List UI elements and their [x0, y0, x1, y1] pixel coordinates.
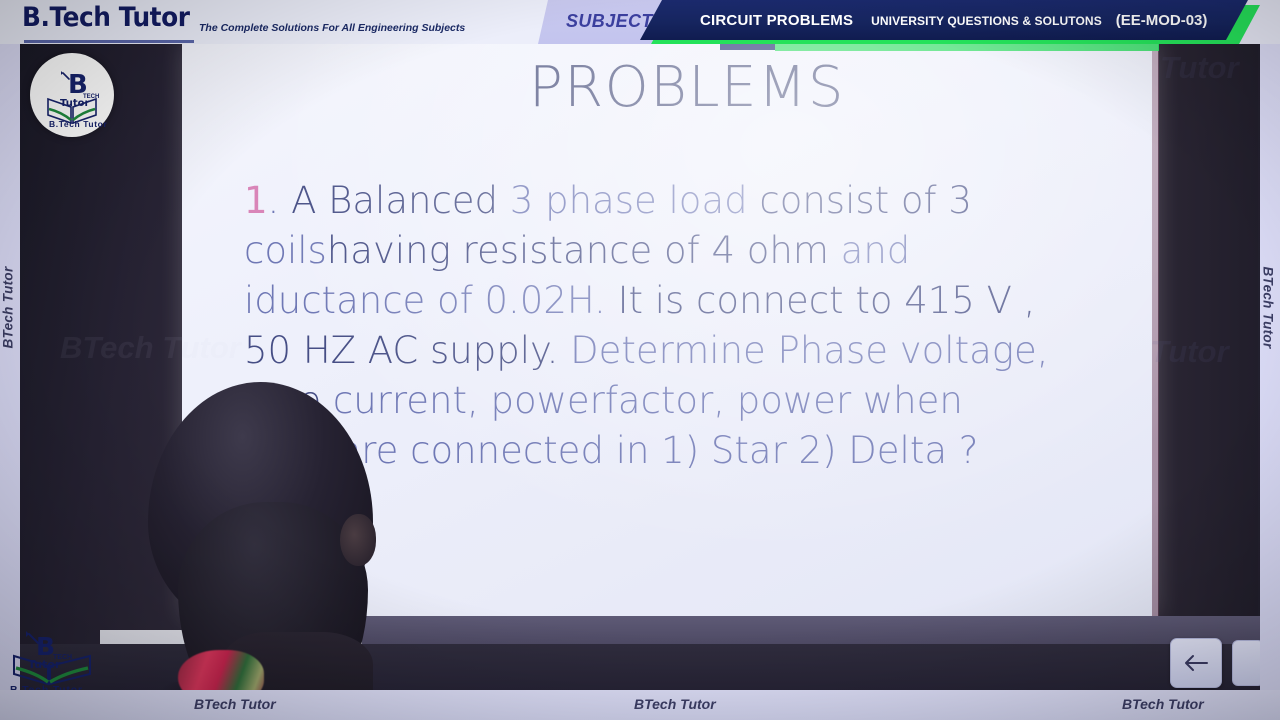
arrow-left-icon — [1183, 654, 1209, 672]
line2-part-c: and — [841, 229, 911, 272]
line1-part-c: consist of 3 — [759, 179, 972, 222]
brand-title: B.Tech Tutor — [22, 2, 189, 33]
watermark-bottom-left: BTech Tutor — [194, 696, 276, 712]
btech-tutor-logo-icon: B TECH Tutor B.Tech Tutor — [30, 53, 114, 137]
question-line-6: coils are connected in 1) Star 2) Delta … — [244, 426, 1144, 476]
brand-underline — [24, 40, 194, 43]
header-bar: B.Tech Tutor The Complete Solutions For … — [0, 0, 1280, 44]
watermark-side-right: BTech Tutor — [1261, 266, 1276, 348]
screen-right-edge — [1152, 44, 1159, 616]
line6-part-b: are connected in 1) Star 2) Delta ? — [327, 429, 979, 472]
question-number: 1 — [244, 179, 268, 222]
subject-label: SUBJECT: — [566, 11, 658, 32]
line3-part-b: It is connect to 415 V , — [618, 279, 1036, 322]
logo-badge-top: B TECH Tutor B.Tech Tutor — [30, 53, 114, 137]
desk-shadow — [0, 644, 1280, 690]
line1-part-b: 3 phase load — [510, 179, 760, 222]
line5-part-b: current, powerfactor, power when — [321, 379, 963, 422]
line2-part-a: coils — [244, 229, 327, 272]
slide-body: 1. A Balanced 3 phase load consist of 3 … — [244, 176, 1144, 476]
left-rail — [0, 44, 20, 690]
banner-main-title: CIRCUIT PROBLEMS — [700, 12, 853, 29]
question-line-1: 1. A Balanced 3 phase load consist of 3 — [244, 176, 1144, 226]
question-line-3: iductance of 0.02H. It is connect to 415… — [244, 276, 1144, 326]
btech-tutor-logo-icon: B TECH Tutor B.Tech Tutor — [6, 628, 98, 696]
brand-tagline: The Complete Solutions For All Engineeri… — [199, 22, 465, 34]
question-line-2: coilshaving resistance of 4 ohm and — [244, 226, 1144, 276]
line4-part-b: Determine Phase voltage, — [570, 329, 1048, 372]
subject-banner-text: CIRCUIT PROBLEMS UNIVERSITY QUESTIONS & … — [700, 12, 1207, 30]
svg-text:Tutor: Tutor — [28, 658, 61, 671]
watermark-bottom-right: BTech Tutor — [1122, 696, 1204, 712]
slide-title: PROBLEMS — [529, 55, 845, 120]
wall-right-dark — [1158, 44, 1258, 644]
slide-green-strip — [775, 44, 1159, 51]
line1-part-a: A Balanced — [291, 179, 510, 222]
right-rail — [1260, 44, 1280, 690]
svg-text:B.Tech Tutor: B.Tech Tutor — [49, 119, 107, 129]
banner-module-code: (EE-MOD-03) — [1116, 12, 1208, 29]
question-line-4: 50 HZ AC supply. Determine Phase voltage… — [244, 326, 1144, 376]
line3-part-a: iductance of 0.02H. — [244, 279, 618, 322]
line4-part-a: 50 HZ AC supply. — [244, 329, 570, 372]
svg-text:Tutor: Tutor — [60, 98, 89, 109]
question-line-5: Line current, powerfactor, power when — [244, 376, 1144, 426]
line2-part-b: having resistance of 4 ohm — [327, 229, 841, 272]
video-lecture-frame: Tutor BTech Tutor Tutor ch Tutor PROBLEM… — [0, 0, 1280, 720]
line6-part-a: coils — [244, 429, 327, 472]
back-button[interactable] — [1170, 638, 1222, 688]
banner-subtitle: UNIVERSITY QUESTIONS & SOLUTONS — [871, 14, 1102, 28]
line5-part-a: Line — [244, 379, 321, 422]
watermark-side-left: BTech Tutor — [1, 266, 16, 348]
logo-badge-bottom: B TECH Tutor B.Tech Tutor — [6, 628, 98, 696]
watermark-bottom-center: BTech Tutor — [634, 696, 716, 712]
question-dot: . — [268, 179, 292, 222]
